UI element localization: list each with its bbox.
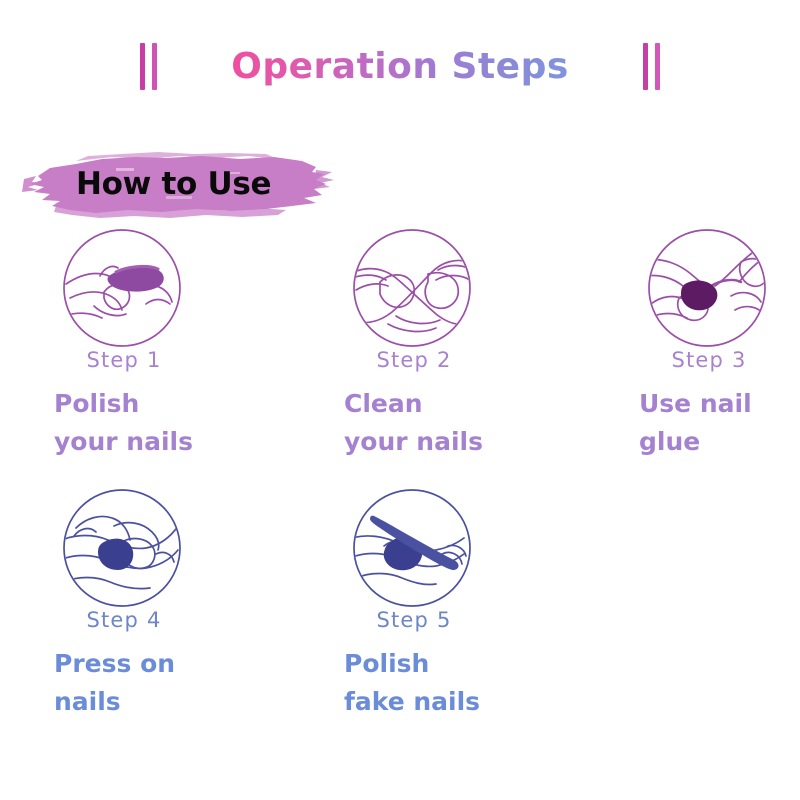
double-vertical-bars-icon [152, 43, 157, 90]
steps-row-bottom: Step 4 Press on nails [0, 486, 800, 746]
step-label-2: Step 2 [332, 348, 496, 372]
step-caption-4: Press on nails [54, 645, 204, 721]
page-header: Operation Steps [0, 34, 800, 98]
step-caption-2: Clean your nails [344, 385, 494, 461]
double-vertical-bars-icon [655, 43, 660, 90]
page-title: Operation Steps [231, 46, 569, 87]
step-label-3: Step 3 [627, 348, 791, 372]
steps-row-top: Step 1 Polish your nails [0, 226, 800, 486]
step-card-5[interactable]: Step 5 Polish fake nails [330, 486, 570, 721]
step-card-1[interactable]: Step 1 Polish your nails [40, 226, 280, 461]
step-caption-3: Use nail glue [639, 385, 789, 461]
step-label-5: Step 5 [332, 608, 496, 632]
file-fake-nail-icon [350, 486, 474, 610]
how-to-use-label: How to Use [76, 166, 271, 202]
decor-bars-right [643, 41, 660, 91]
step-caption-1: Polish your nails [54, 385, 204, 461]
decor-bars-left [140, 41, 157, 91]
press-fake-nail-icon [60, 486, 184, 610]
step-label-4: Step 4 [42, 608, 206, 632]
step-caption-5: Polish fake nails [344, 645, 494, 721]
step-card-2[interactable]: Step 2 Clean your nails [330, 226, 570, 461]
steps-container: Step 1 Polish your nails [0, 226, 800, 746]
step-card-4[interactable]: Step 4 Press on nails [40, 486, 280, 721]
two-fingers-cleaning-icon [350, 226, 474, 350]
double-vertical-bars-icon [140, 43, 145, 90]
finger-with-nail-file-icon [60, 226, 184, 350]
step-label-1: Step 1 [42, 348, 206, 372]
how-to-use-banner: How to Use [16, 146, 336, 222]
step-card-3[interactable]: Step 3 Use nail glue [625, 226, 800, 461]
glue-brush-on-nail-icon [645, 226, 769, 350]
double-vertical-bars-icon [643, 43, 648, 90]
